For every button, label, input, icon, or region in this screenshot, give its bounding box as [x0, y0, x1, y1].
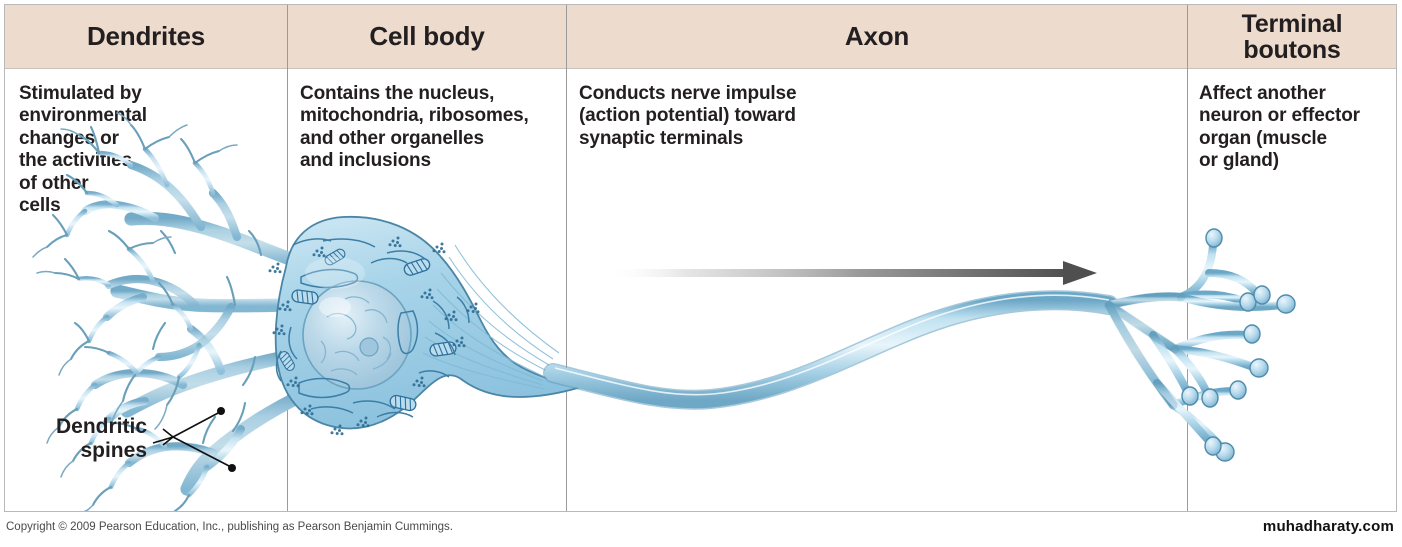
- column-description-axon: Conducts nerve impulse (action potential…: [579, 83, 1079, 150]
- nucleolus: [360, 338, 378, 356]
- mitochondria: [278, 247, 457, 411]
- impulse-direction-arrow: [603, 261, 1097, 285]
- soma-membrane: [276, 217, 581, 429]
- chromatin: [321, 297, 391, 375]
- neuron-illustration: [5, 5, 1398, 511]
- endoplasmic-reticulum: [277, 239, 470, 417]
- column-title-dendrites: Dendrites: [5, 5, 287, 69]
- column-description-cell-body: Contains the nucleus, mitochondria, ribo…: [300, 83, 562, 173]
- column-title-axon: Axon: [567, 5, 1187, 69]
- cell-body-soma: [269, 217, 582, 435]
- synaptic-bulbs: [1182, 229, 1295, 461]
- spine-marker-lower: [228, 464, 236, 472]
- neuron-structure-figure: Dendrites Cell body Axon Terminal bouton…: [0, 0, 1402, 547]
- ribosomes: [269, 237, 480, 436]
- column-description-terminal-boutons: Affect another neuron or effector organ …: [1199, 83, 1399, 173]
- column-title-cell-body: Cell body: [288, 5, 566, 69]
- terminal-boutons-tree: [1109, 229, 1295, 461]
- divider-cellbody-axon: [566, 5, 567, 511]
- figure-panel: Dendrites Cell body Axon Terminal bouton…: [4, 4, 1397, 512]
- nucleus: [303, 281, 411, 389]
- copyright-notice: Copyright © 2009 Pearson Education, Inc.…: [6, 521, 453, 533]
- divider-axon-terminals: [1187, 5, 1188, 511]
- axon-hillock-striations: [423, 245, 559, 389]
- site-watermark: muhadharaty.com: [1263, 518, 1394, 535]
- column-description-dendrites: Stimulated by environmental changes or t…: [19, 83, 274, 217]
- spine-marker-upper: [217, 407, 225, 415]
- divider-dendrites-cellbody: [287, 5, 288, 511]
- dendritic-spines-leader: [153, 412, 231, 467]
- dendritic-spines-label: Dendritic spines: [17, 415, 147, 462]
- column-title-terminal-boutons: Terminal boutons: [1188, 5, 1396, 69]
- axon-shaft: [553, 295, 1109, 400]
